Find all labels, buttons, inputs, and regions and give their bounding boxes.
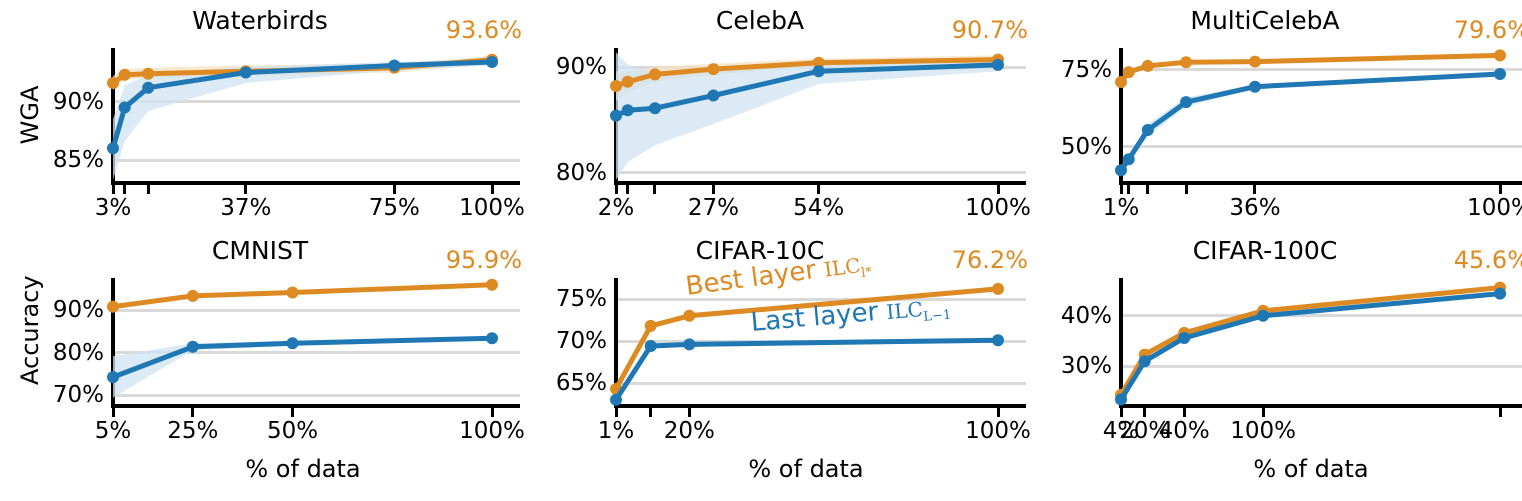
end-value-label: 45.6% xyxy=(1454,246,1522,274)
axis-label-x-col1: % of data xyxy=(748,455,863,483)
axis-label-y-row0: WGA xyxy=(16,71,44,159)
legend-last-symbol: ILCL−1 xyxy=(885,295,951,325)
chart-panel-cifar-100c: CIFAR-100C40%30%4%20%40%100%45.6% xyxy=(0,0,1522,501)
data-point xyxy=(1257,310,1269,322)
axis-label-x-col2: % of data xyxy=(1253,455,1368,483)
data-point xyxy=(1178,332,1190,344)
series-layer xyxy=(0,0,1522,501)
data-point xyxy=(1115,394,1127,406)
axis-label-y-row1: Accuracy xyxy=(16,297,44,385)
data-point xyxy=(1494,288,1506,300)
figure-root: Waterbirds90%85%3%37%75%100%93.6%CelebA9… xyxy=(0,0,1522,501)
data-point xyxy=(1139,355,1151,367)
axis-label-x-col0: % of data xyxy=(245,455,360,483)
series-line xyxy=(1121,294,1500,400)
legend-best-symbol: ILCl* xyxy=(823,252,873,282)
